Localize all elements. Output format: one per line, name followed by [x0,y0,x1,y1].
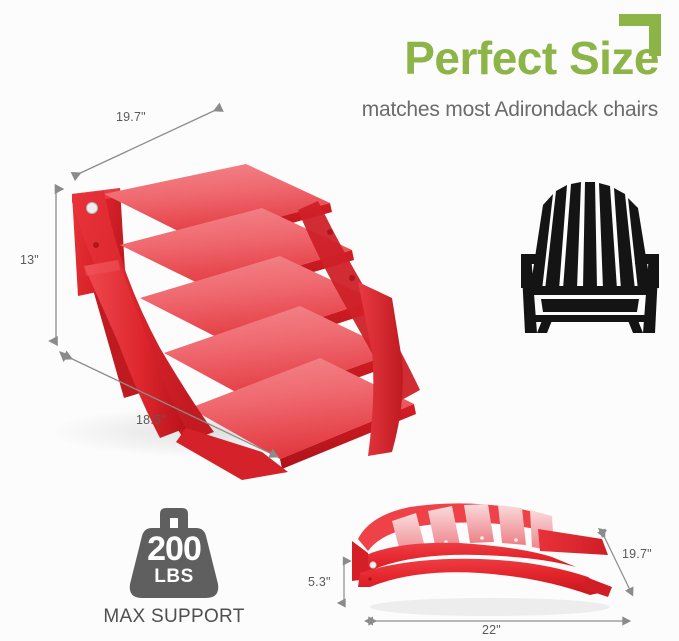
weight-icon: 200 LBS [122,508,226,600]
dimension-arrow-folded-depth [596,526,642,598]
folded-ottoman-image [340,495,640,620]
dimension-arrow-depth [56,348,286,468]
dimension-arrow-folded-thickness [336,556,352,608]
dimension-label-folded-length: 22" [482,623,501,637]
weight-unit: LBS [122,566,226,588]
dimension-label-folded-thickness: 5.3" [308,575,331,589]
dimension-label-width: 19.7" [116,110,146,124]
max-support-badge: 200 LBS MAX SUPPORT [74,508,274,628]
page-title: Perfect Size [404,34,659,82]
dimension-label-height: 13" [20,253,39,267]
dimension-arrow-height [44,184,68,346]
dimension-arrow-width [52,104,252,188]
dimension-label-folded-depth: 19.7" [622,547,652,561]
adirondack-chair-icon [515,168,665,333]
infographic-canvas: Perfect Size matches most Adirondack cha… [0,0,679,641]
dimension-label-depth: 18.5" [136,413,166,427]
weight-value: 200 [122,530,226,569]
max-support-label: MAX SUPPORT [74,606,274,628]
